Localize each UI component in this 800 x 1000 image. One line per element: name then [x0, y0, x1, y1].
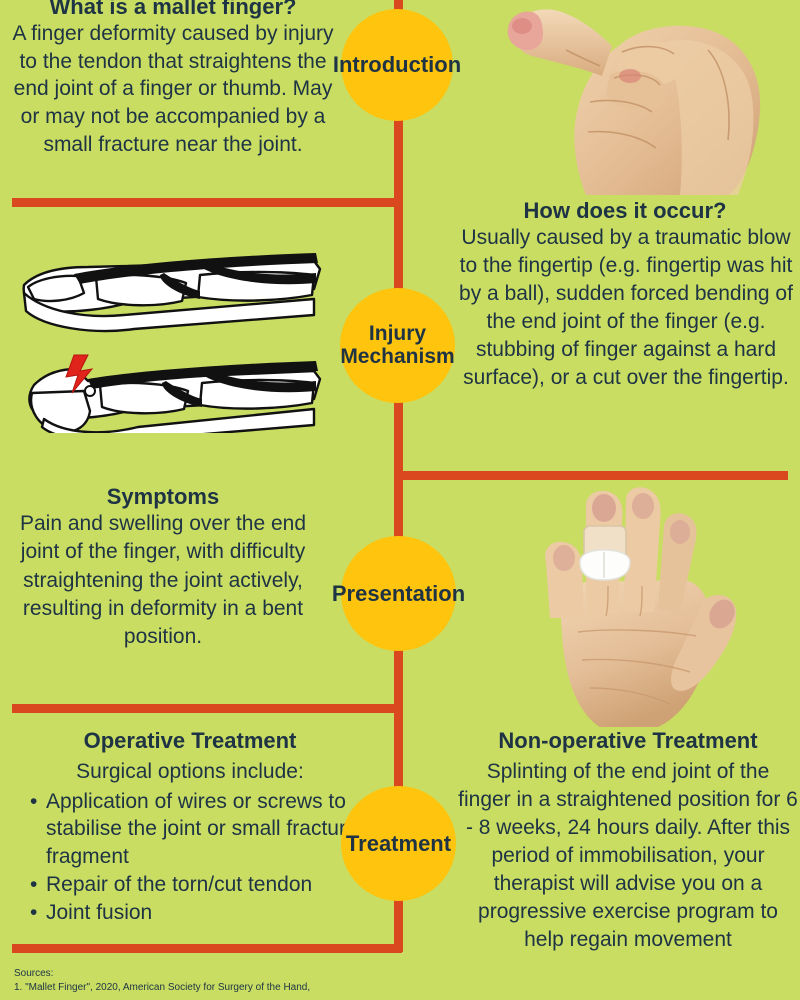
bullet-icon: • [30, 788, 37, 815]
divider-footer [12, 944, 402, 953]
circle-introduction-label: Introduction [333, 53, 461, 77]
operative-heading: Operative Treatment [20, 728, 360, 754]
list-item: • Joint fusion [30, 899, 380, 926]
circle-injury-mechanism-label: Injury Mechanism [340, 323, 454, 368]
mallet-finger-hand-photo [470, 0, 800, 195]
circle-injury-mechanism[interactable]: Injury Mechanism [340, 288, 455, 403]
splinted-finger-hand-photo [490, 482, 800, 727]
symptoms-heading: Symptoms [8, 484, 318, 510]
symptoms-body: Pain and swelling over the end joint of … [4, 510, 322, 652]
occurrence-body: Usually caused by a traumatic blow to th… [458, 224, 794, 392]
sources-item: 1. "Mallet Finger", 2020, American Socie… [14, 981, 310, 995]
sources-label: Sources: [14, 967, 310, 981]
intro-heading: What is a mallet finger? [8, 0, 338, 20]
tendon-rupture-diagram [14, 243, 324, 433]
sources-block: Sources: 1. "Mallet Finger", 2020, Ameri… [14, 967, 310, 994]
divider-mechanism [394, 471, 788, 480]
circle-treatment-label: Treatment [346, 832, 451, 856]
circle-presentation[interactable]: Presentation [341, 536, 456, 651]
operative-bullet-text: Application of wires or screws to stabil… [46, 790, 358, 868]
bullet-icon: • [30, 871, 37, 898]
list-item: • Application of wires or screws to stab… [30, 788, 380, 870]
operative-bullet-list: • Application of wires or screws to stab… [8, 788, 380, 926]
operative-bullet-text: Repair of the torn/cut tendon [46, 873, 312, 896]
occurrence-heading: How does it occur? [460, 198, 790, 224]
divider-intro [12, 198, 402, 207]
infographic-canvas: What is a mallet finger? A finger deform… [0, 0, 800, 1000]
list-item: • Repair of the torn/cut tendon [30, 871, 380, 898]
divider-presentation [12, 704, 402, 713]
circle-presentation-label: Presentation [332, 582, 465, 606]
intro-body: A finger deformity caused by injury to t… [8, 20, 338, 159]
operative-bullet-text: Joint fusion [46, 901, 152, 924]
nonoperative-body: Splinting of the end joint of the finger… [458, 758, 798, 953]
operative-intro: Surgical options include: [20, 758, 360, 785]
circle-introduction[interactable]: Introduction [341, 9, 453, 121]
circle-treatment[interactable]: Treatment [341, 786, 456, 901]
nonoperative-heading: Non-operative Treatment [458, 728, 798, 754]
bullet-icon: • [30, 899, 37, 926]
splint-pad [580, 550, 630, 580]
